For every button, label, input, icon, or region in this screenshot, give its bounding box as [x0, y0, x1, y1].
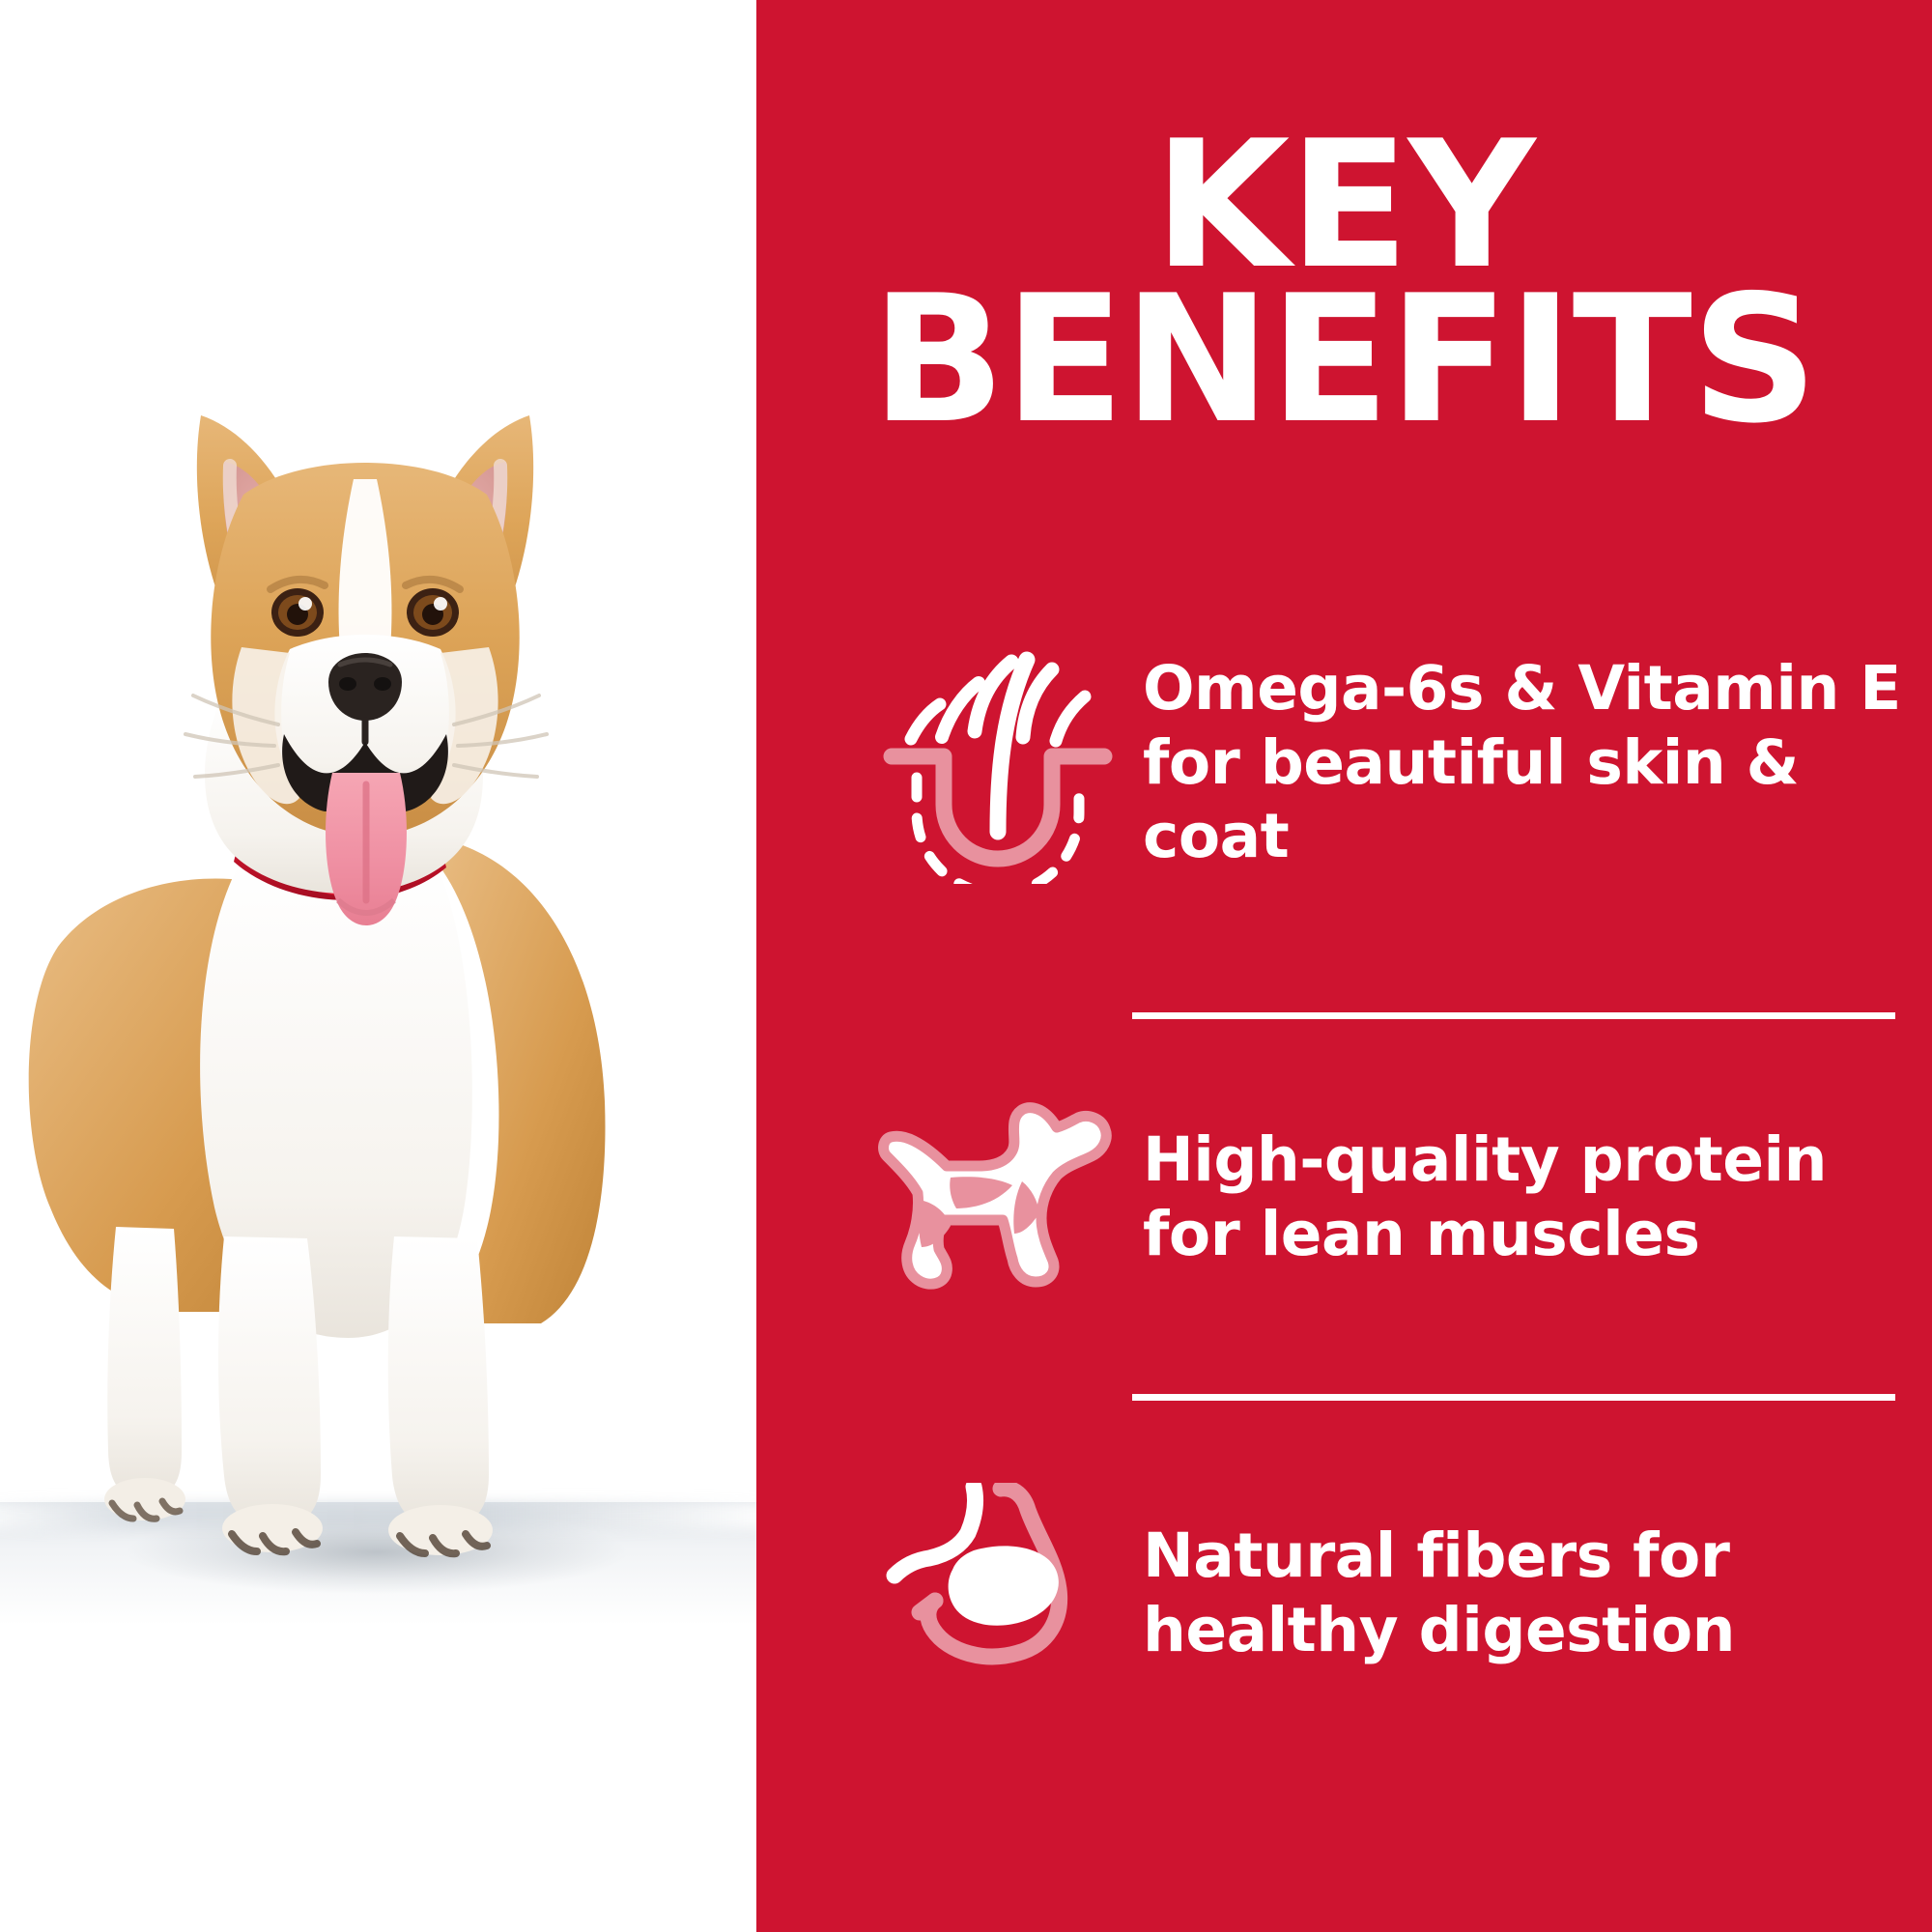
- benefit-text-digestion: Natural fibers for healthy digestion: [1143, 1520, 1932, 1668]
- benefit-text-skin-coat: Omega-6s & Vitamin E for beautiful skin …: [1143, 652, 1932, 875]
- benefit-item-skin-coat: Omega-6s & Vitamin E for beautiful skin …: [756, 618, 1932, 908]
- stomach-icon: [853, 1459, 1143, 1729]
- title-line-benefits: BENEFITS: [756, 282, 1932, 437]
- dog-muscle-icon: [853, 1063, 1143, 1333]
- benefit-text-lean-muscles: High-quality protein for lean muscles: [1143, 1123, 1932, 1272]
- page-title: KEY BENEFITS: [756, 128, 1932, 437]
- benefit-divider: [1132, 1012, 1895, 1019]
- hair-follicle-icon: [853, 628, 1143, 898]
- product-hero-photo-panel: [0, 0, 756, 1932]
- key-benefits-panel: KEY BENEFITS: [756, 0, 1932, 1932]
- key-benefits-marketing-panel: KEY BENEFITS: [0, 0, 1932, 1932]
- benefit-divider: [1132, 1394, 1895, 1401]
- benefit-item-digestion: Natural fibers for healthy digestion: [756, 1449, 1932, 1739]
- corgi-photo: [0, 406, 756, 1565]
- benefit-item-lean-muscles: High-quality protein for lean muscles: [756, 1053, 1932, 1343]
